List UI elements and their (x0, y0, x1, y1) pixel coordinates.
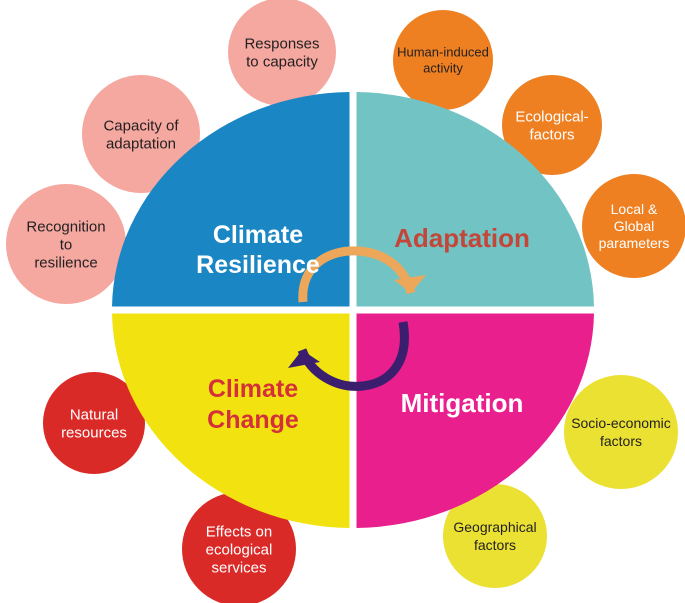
bubble-label-line: activity (423, 61, 463, 76)
label-line: Mitigation (401, 388, 524, 418)
bubble-label-line: Natural (70, 406, 118, 423)
bubble-label-line: Recognition (26, 218, 105, 235)
bubble-natural-resources-label: Naturalresources (61, 406, 127, 441)
diagram-canvas: Responsesto capacityCapacity ofadaptatio… (0, 0, 685, 603)
label-line: Resilience (196, 251, 320, 279)
bubble-capacity-of-adaptation-label: Capacity ofadaptation (103, 117, 179, 152)
bubble-label-line: Ecological- (515, 108, 588, 125)
bubble-label-line: Global (614, 218, 654, 234)
label-line: Climate (213, 221, 303, 249)
bubble-socio-economic-factors[interactable]: Socio-economicfactors (560, 371, 682, 493)
bubble-label-line: resilience (34, 254, 97, 271)
label-line: Adaptation (394, 223, 530, 253)
bubble-responses-to-capacity[interactable]: Responsesto capacity (224, 0, 340, 110)
bubble-label-line: to (60, 236, 73, 253)
bubble-label-line: Effects on (206, 523, 272, 540)
bubble-label-line: resources (61, 424, 127, 441)
quadrant-mitigation-label: Mitigation (401, 388, 524, 418)
bubble-responses-to-capacity-label: Responsesto capacity (244, 35, 319, 70)
quadrants-layer (112, 92, 594, 528)
label-line: Climate (208, 375, 298, 403)
bubble-local-global-parameters[interactable]: Local &Globalparameters (578, 170, 685, 282)
bubble-label-line: services (211, 559, 266, 576)
bubble-label-line: Local & (611, 201, 658, 217)
climate-quadrant-diagram: Responsesto capacityCapacity ofadaptatio… (0, 0, 685, 603)
bubble-label-line: Geographical (453, 519, 536, 535)
bubble-label-line: Responses (244, 35, 319, 52)
quadrant-mitigation[interactable] (357, 314, 595, 529)
bubble-recognition-to-resilience[interactable]: Recognitiontoresilience (2, 180, 130, 308)
bubble-label-line: Capacity of (103, 117, 179, 134)
label-line: Change (207, 406, 299, 434)
bubble-label-line: factors (600, 433, 642, 449)
bubble-label-line: adaptation (106, 135, 176, 152)
bubble-label-line: to capacity (246, 53, 318, 70)
quadrant-adaptation-label: Adaptation (394, 223, 530, 253)
bubble-label-line: ecological (206, 541, 273, 558)
bubble-effects-on-ecological-services-label: Effects onecologicalservices (206, 523, 273, 576)
bubble-label-line: parameters (599, 235, 670, 251)
bubble-label-line: factors (529, 126, 574, 143)
bubble-label-line: factors (474, 537, 516, 553)
bubble-label-line: Human-induced (397, 45, 489, 60)
bubble-label-line: Socio-economic (571, 415, 671, 431)
